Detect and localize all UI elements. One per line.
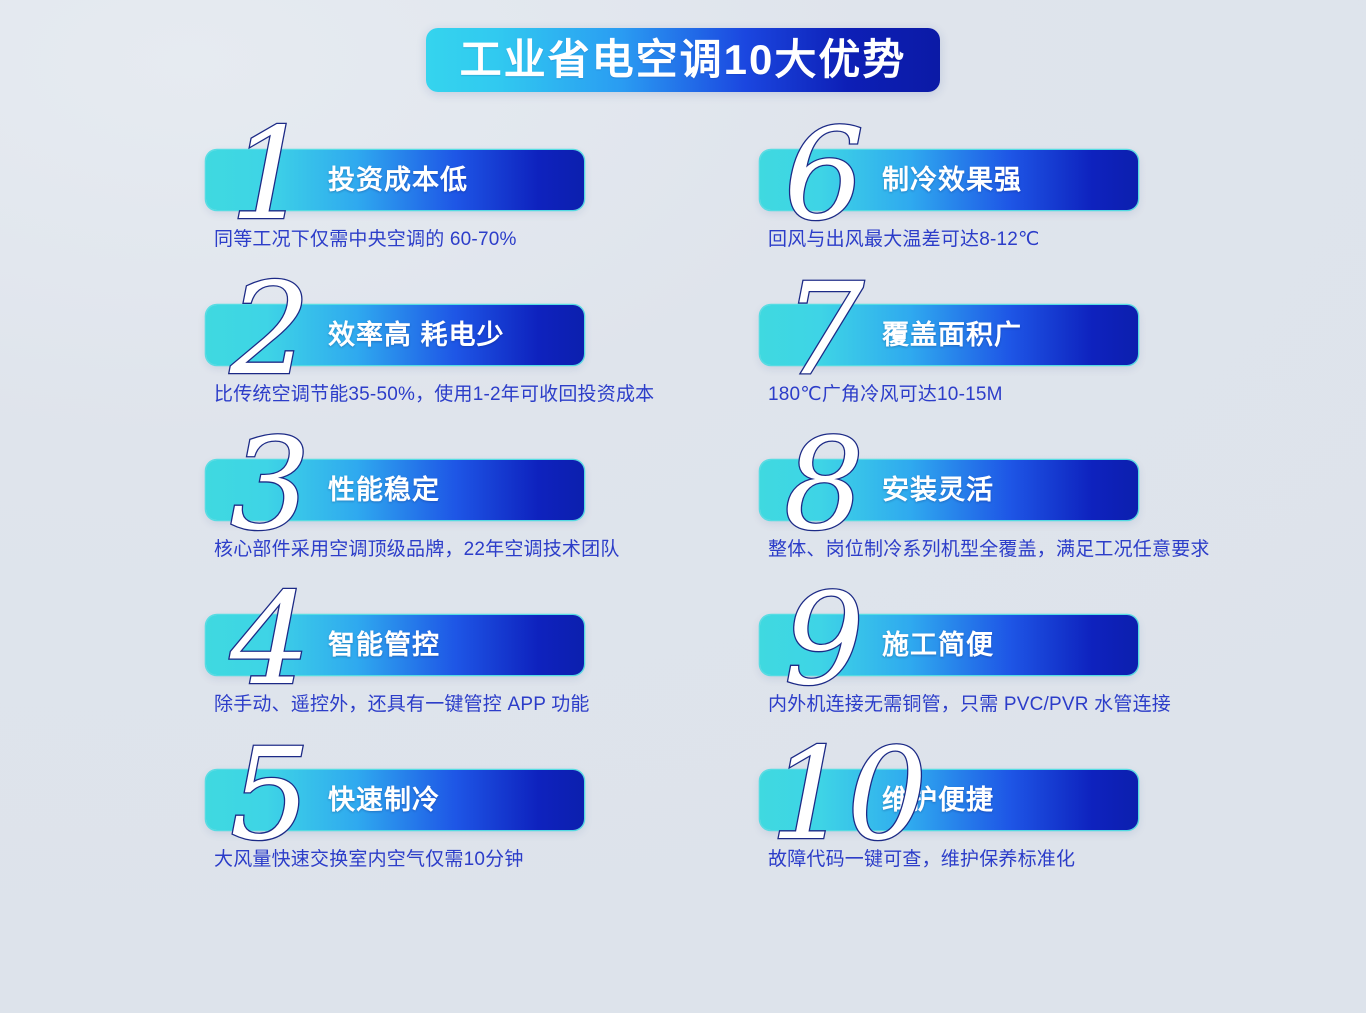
advantage-item[interactable]: 安装灵活 8 整体、岗位制冷系列机型全覆盖，满足工况任意要求 [760,460,1280,615]
advantage-description: 除手动、遥控外，还具有一键管控 APP 功能 [214,693,590,718]
advantage-description: 回风与出风最大温差可达8-12℃ [768,228,1040,253]
advantage-label: 投资成本低 [328,167,468,194]
advantage-item[interactable]: 快速制冷 5 大风量快速交换室内空气仅需10分钟 [206,770,726,925]
advantage-description: 大风量快速交换室内空气仅需10分钟 [214,848,524,873]
advantage-item[interactable]: 覆盖面积广 7 180℃广角冷风可达10-15M [760,305,1280,460]
advantage-pill[interactable]: 快速制冷 [206,770,584,830]
advantage-pill[interactable]: 维护便捷 [760,770,1138,830]
advantage-pill[interactable]: 制冷效果强 [760,150,1138,210]
advantage-description: 同等工况下仅需中央空调的 60-70% [214,228,517,253]
advantages-grid: 投资成本低 1 同等工况下仅需中央空调的 60-70% 效率高 耗电少 2 [0,150,1366,980]
advantage-pill[interactable]: 投资成本低 [206,150,584,210]
advantage-label: 维护便捷 [882,787,994,814]
infographic-page: 工业省电空调10大优势 投资成本低 1 同等工况下仅需中央空调的 60-70% [0,0,1366,1013]
advantage-item[interactable]: 性能稳定 3 核心部件采用空调顶级品牌，22年空调技术团队 [206,460,726,615]
advantage-pill[interactable]: 覆盖面积广 [760,305,1138,365]
advantage-item[interactable]: 维护便捷 10 故障代码一键可查，维护保养标准化 [760,770,1280,925]
advantage-label: 性能稳定 [328,477,440,504]
advantage-description: 180℃广角冷风可达10-15M [768,383,1003,408]
advantage-label: 安装灵活 [882,477,994,504]
advantage-description: 整体、岗位制冷系列机型全覆盖，满足工况任意要求 [768,538,1210,563]
advantage-item[interactable]: 投资成本低 1 同等工况下仅需中央空调的 60-70% [206,150,726,305]
advantage-pill[interactable]: 性能稳定 [206,460,584,520]
advantage-description: 故障代码一键可查，维护保养标准化 [768,848,1075,873]
advantage-item[interactable]: 制冷效果强 6 回风与出风最大温差可达8-12℃ [760,150,1280,305]
advantage-label: 效率高 耗电少 [328,322,505,349]
advantage-item[interactable]: 智能管控 4 除手动、遥控外，还具有一键管控 APP 功能 [206,615,726,770]
advantage-pill[interactable]: 施工简便 [760,615,1138,675]
advantage-label: 覆盖面积广 [882,322,1022,349]
page-title-bar: 工业省电空调10大优势 [426,28,941,92]
advantage-label: 智能管控 [328,632,440,659]
advantage-item[interactable]: 效率高 耗电少 2 比传统空调节能35-50%，使用1-2年可收回投资成本 [206,305,726,460]
advantage-description: 核心部件采用空调顶级品牌，22年空调技术团队 [214,538,620,563]
advantage-label: 制冷效果强 [882,167,1022,194]
advantage-description: 内外机连接无需铜管，只需 PVC/PVR 水管连接 [768,693,1171,718]
advantage-label: 快速制冷 [328,787,440,814]
advantage-item[interactable]: 施工简便 9 内外机连接无需铜管，只需 PVC/PVR 水管连接 [760,615,1280,770]
page-title: 工业省电空调10大优势 [460,39,907,81]
advantage-description: 比传统空调节能35-50%，使用1-2年可收回投资成本 [214,383,654,408]
advantage-pill[interactable]: 智能管控 [206,615,584,675]
advantage-pill[interactable]: 效率高 耗电少 [206,305,584,365]
advantages-column-left: 投资成本低 1 同等工况下仅需中央空调的 60-70% 效率高 耗电少 2 [206,150,726,925]
advantages-column-right: 制冷效果强 6 回风与出风最大温差可达8-12℃ 覆盖面积广 7 [760,150,1280,925]
advantage-pill[interactable]: 安装灵活 [760,460,1138,520]
header: 工业省电空调10大优势 [0,0,1366,120]
advantage-label: 施工简便 [882,632,994,659]
